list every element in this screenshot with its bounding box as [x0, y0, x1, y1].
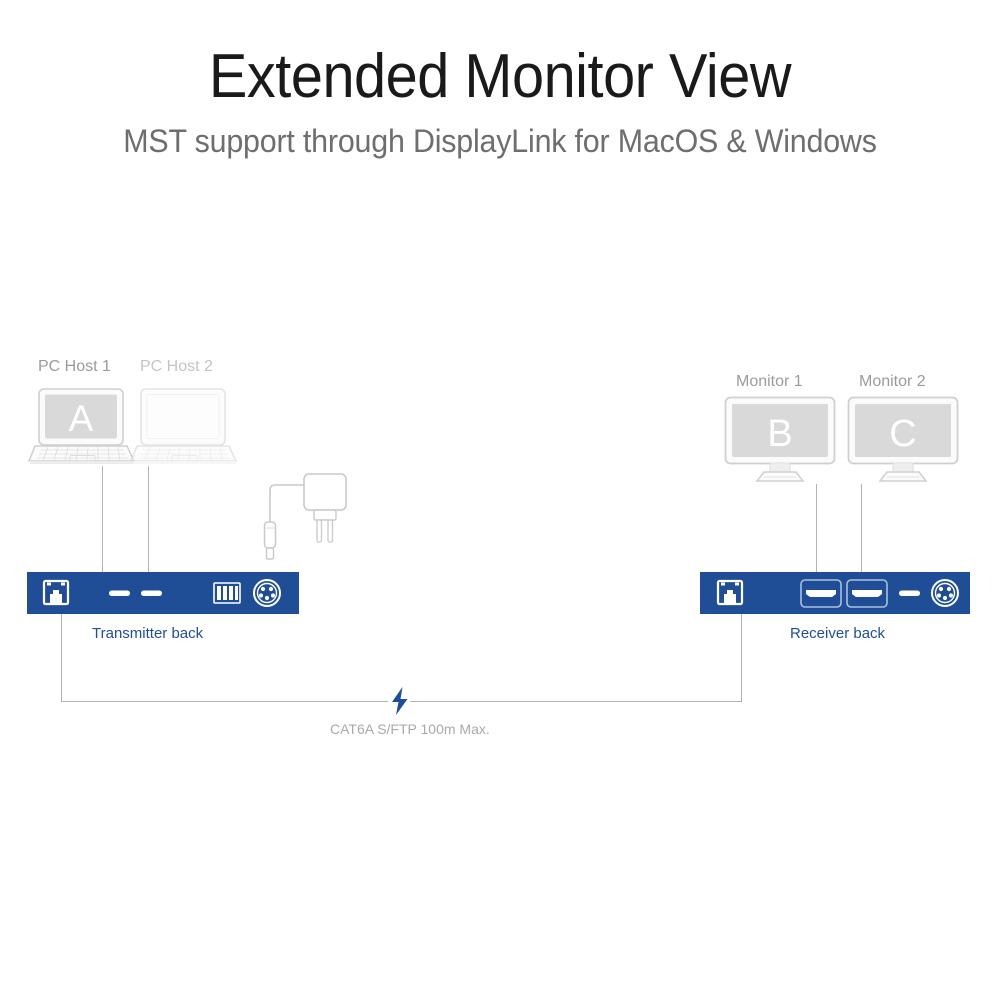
monitor-2: C — [847, 396, 959, 486]
cable-host2-to-transmitter — [148, 466, 149, 572]
transmitter-label: Transmitter back — [92, 624, 203, 643]
monitor-1: B — [724, 396, 836, 486]
laptop-pc-host-1: A — [28, 388, 136, 466]
transmitter-device — [27, 572, 299, 614]
plug-prong-right — [328, 520, 333, 542]
monitor-screen-letter-b: B — [767, 413, 792, 455]
receiver-label: Receiver back — [790, 624, 885, 643]
cat6a-segment-right — [741, 614, 742, 702]
rj45-port-icon — [718, 581, 742, 604]
usb-c-port-2-icon — [141, 591, 162, 597]
cat6a-segment-bottom-left — [61, 701, 388, 702]
lightning-bolt-icon — [388, 686, 412, 716]
pc-host-2-label: PC Host 2 — [140, 357, 213, 377]
diagram-canvas: Extended Monitor View MST support throug… — [0, 0, 1000, 1000]
page-title: Extended Monitor View — [35, 44, 965, 110]
dc-power-port-icon — [254, 580, 280, 606]
dc-power-port-icon — [932, 580, 958, 606]
plug-prong-left — [317, 520, 322, 542]
power-adapter — [258, 470, 350, 570]
rj45-port-icon — [44, 581, 68, 604]
hdmi-port-1-icon — [801, 580, 841, 607]
cable-host1-to-transmitter — [102, 466, 103, 572]
monitor-1-label: Monitor 1 — [736, 372, 803, 392]
receiver-device — [700, 572, 970, 614]
monitor-screen-letter-c: C — [889, 413, 916, 455]
power-cable — [270, 485, 304, 522]
usb-c-port-1-icon — [109, 591, 130, 597]
laptop-screen-letter-a: A — [69, 398, 94, 439]
cat6a-segment-bottom-right — [410, 701, 742, 702]
cat6a-cable-label: CAT6A S/FTP 100m Max. — [330, 720, 490, 738]
hdmi-port-2-icon — [847, 580, 887, 607]
page-subtitle: MST support through DisplayLink for MacO… — [25, 122, 975, 160]
laptop-pc-host-2 — [130, 388, 238, 466]
dc-barrel-plug — [265, 522, 276, 548]
cat6a-segment-left — [61, 614, 62, 702]
dip-switch-icon — [214, 583, 240, 603]
cable-monitor2-to-receiver — [861, 484, 862, 572]
usb-c-port-icon — [899, 591, 920, 597]
cable-monitor1-to-receiver — [816, 484, 817, 572]
monitor-2-label: Monitor 2 — [859, 372, 926, 392]
pc-host-1-label: PC Host 1 — [38, 357, 111, 377]
